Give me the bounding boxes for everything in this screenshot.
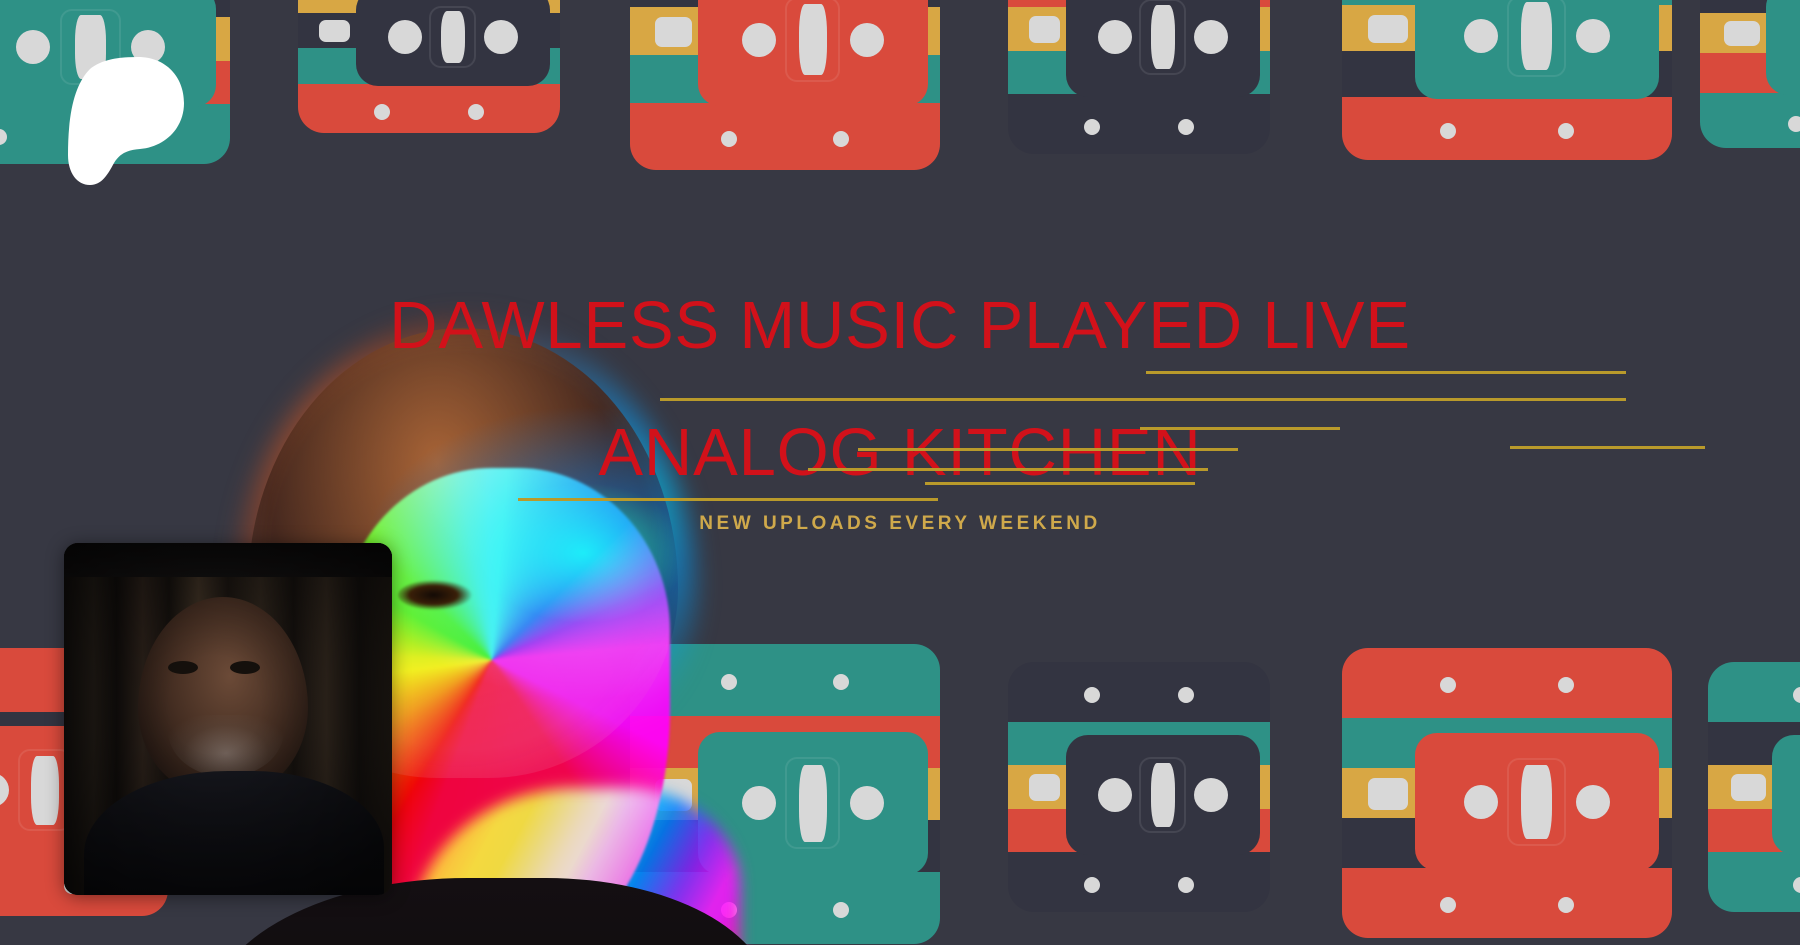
cassette-screw xyxy=(1440,677,1456,693)
cassette-screw xyxy=(1178,687,1194,703)
cassette-label-swatch xyxy=(1029,774,1060,801)
cassette-hub-left xyxy=(1098,20,1132,54)
cassette-screw xyxy=(1793,687,1800,703)
cassette-screws-top xyxy=(1708,687,1800,703)
cassette-reel-window xyxy=(1507,758,1566,847)
cassette-hub-left xyxy=(1464,19,1498,53)
cassette-screw xyxy=(1440,897,1456,913)
cassette-hub-left xyxy=(742,23,776,57)
cassette-screws-bottom xyxy=(1342,123,1672,139)
patreon-creator-page: DAWLESS MUSIC PLAYED LIVE ANALOG KITCHEN… xyxy=(0,0,1800,945)
cassette-tape-spool xyxy=(799,765,828,842)
cassette-hub-left xyxy=(16,30,50,64)
cassette-screws-top xyxy=(1008,687,1270,703)
cassette-row2-col4 xyxy=(1342,648,1672,938)
cassette-hub-left xyxy=(742,786,776,820)
cassette-hub-left xyxy=(0,773,9,807)
cassette-screw xyxy=(374,104,390,120)
cassette-window xyxy=(698,0,927,106)
cassette-screw xyxy=(1178,877,1194,893)
cassette-tape-spool xyxy=(31,756,59,825)
cassette-screw xyxy=(1178,119,1194,135)
cassette-screws-bottom xyxy=(630,131,940,147)
cassette-reel-window xyxy=(785,0,840,82)
cassette-row1-col2 xyxy=(630,0,940,170)
cassette-window xyxy=(1066,0,1260,97)
cassette-screws-bottom xyxy=(1008,877,1270,893)
cassette-screw xyxy=(721,131,737,147)
cassette-label-swatch xyxy=(1368,15,1408,43)
cassette-screw xyxy=(468,104,484,120)
cassette-row1-col1 xyxy=(298,0,560,133)
cassette-screw xyxy=(833,902,849,918)
cassette-screw xyxy=(1558,677,1574,693)
cassette-screw xyxy=(1440,123,1456,139)
cassette-tape-spool xyxy=(1521,765,1552,840)
cassette-hub-right xyxy=(1194,778,1228,812)
cassette-hub-right xyxy=(850,786,884,820)
cassette-screw xyxy=(1084,119,1100,135)
cassette-screw xyxy=(833,131,849,147)
cassette-hub-left xyxy=(1464,785,1498,819)
patreon-p-logo-icon[interactable] xyxy=(68,55,184,187)
cassette-row1-col5 xyxy=(1700,0,1800,148)
cassette-hub-right xyxy=(1576,19,1610,53)
cassette-screws-bottom xyxy=(1342,897,1672,913)
cassette-screws-bottom xyxy=(298,104,560,120)
cassette-screws-top xyxy=(1342,677,1672,693)
cassette-label-swatch xyxy=(1724,21,1760,46)
cassette-row1-col4 xyxy=(1342,0,1672,160)
cassette-window xyxy=(1415,733,1659,872)
cassette-screw xyxy=(1084,687,1100,703)
video-thumbnail-overlay[interactable] xyxy=(64,543,392,895)
cassette-screw xyxy=(721,674,737,690)
cassette-hub-left xyxy=(1098,778,1132,812)
cassette-screw xyxy=(1558,897,1574,913)
cassette-reel-window xyxy=(1507,0,1566,77)
cassette-screw xyxy=(1793,877,1800,893)
cassette-row2-col5 xyxy=(1708,662,1800,912)
cassette-screw xyxy=(1788,116,1800,132)
cassette-window xyxy=(698,732,927,876)
cassette-label-swatch xyxy=(1731,774,1766,801)
cassette-screws-top xyxy=(630,674,940,690)
cassette-label-swatch xyxy=(655,17,692,47)
cassette-screw xyxy=(833,674,849,690)
cassette-label-swatch xyxy=(1368,778,1408,809)
cassette-tape-spool xyxy=(1521,2,1552,70)
cassette-screw xyxy=(1084,877,1100,893)
cassette-tape-spool xyxy=(441,11,465,63)
cassette-screws-bottom xyxy=(1008,119,1270,135)
cassette-label-swatch xyxy=(655,779,692,811)
cassette-hub-right xyxy=(850,23,884,57)
cassette-label-swatch xyxy=(319,20,350,42)
cassette-screw xyxy=(0,129,7,145)
cassette-label-swatch xyxy=(1029,16,1060,43)
cassette-screw xyxy=(1558,123,1574,139)
cassette-row2-col2 xyxy=(630,644,940,944)
cassette-window xyxy=(356,0,550,86)
cassette-screws-bottom xyxy=(1700,116,1800,132)
cassette-tape-spool xyxy=(1151,5,1175,69)
cassette-window xyxy=(1066,735,1260,855)
cassette-hub-right xyxy=(1194,20,1228,54)
cassette-row2-col3 xyxy=(1008,662,1270,912)
cassette-window xyxy=(1766,0,1800,95)
cassette-reel-window xyxy=(785,757,840,849)
cassette-reel-window xyxy=(1139,0,1186,75)
cassette-reel-window xyxy=(429,6,476,69)
video-thumbnail-vignette xyxy=(64,543,392,895)
cassette-row1-col3 xyxy=(1008,0,1270,154)
cassette-window xyxy=(1415,0,1659,99)
cassette-hub-right xyxy=(1576,785,1610,819)
cassette-screws-bottom xyxy=(630,902,940,918)
cassette-screw xyxy=(721,902,737,918)
cassette-screws-bottom xyxy=(1708,877,1800,893)
cassette-reel-window xyxy=(1139,757,1186,834)
cassette-window xyxy=(1772,735,1800,855)
cassette-hub-right xyxy=(484,20,518,54)
cassette-tape-spool xyxy=(1151,763,1175,827)
cassette-tape-spool xyxy=(799,4,828,75)
cassette-hub-left xyxy=(388,20,422,54)
